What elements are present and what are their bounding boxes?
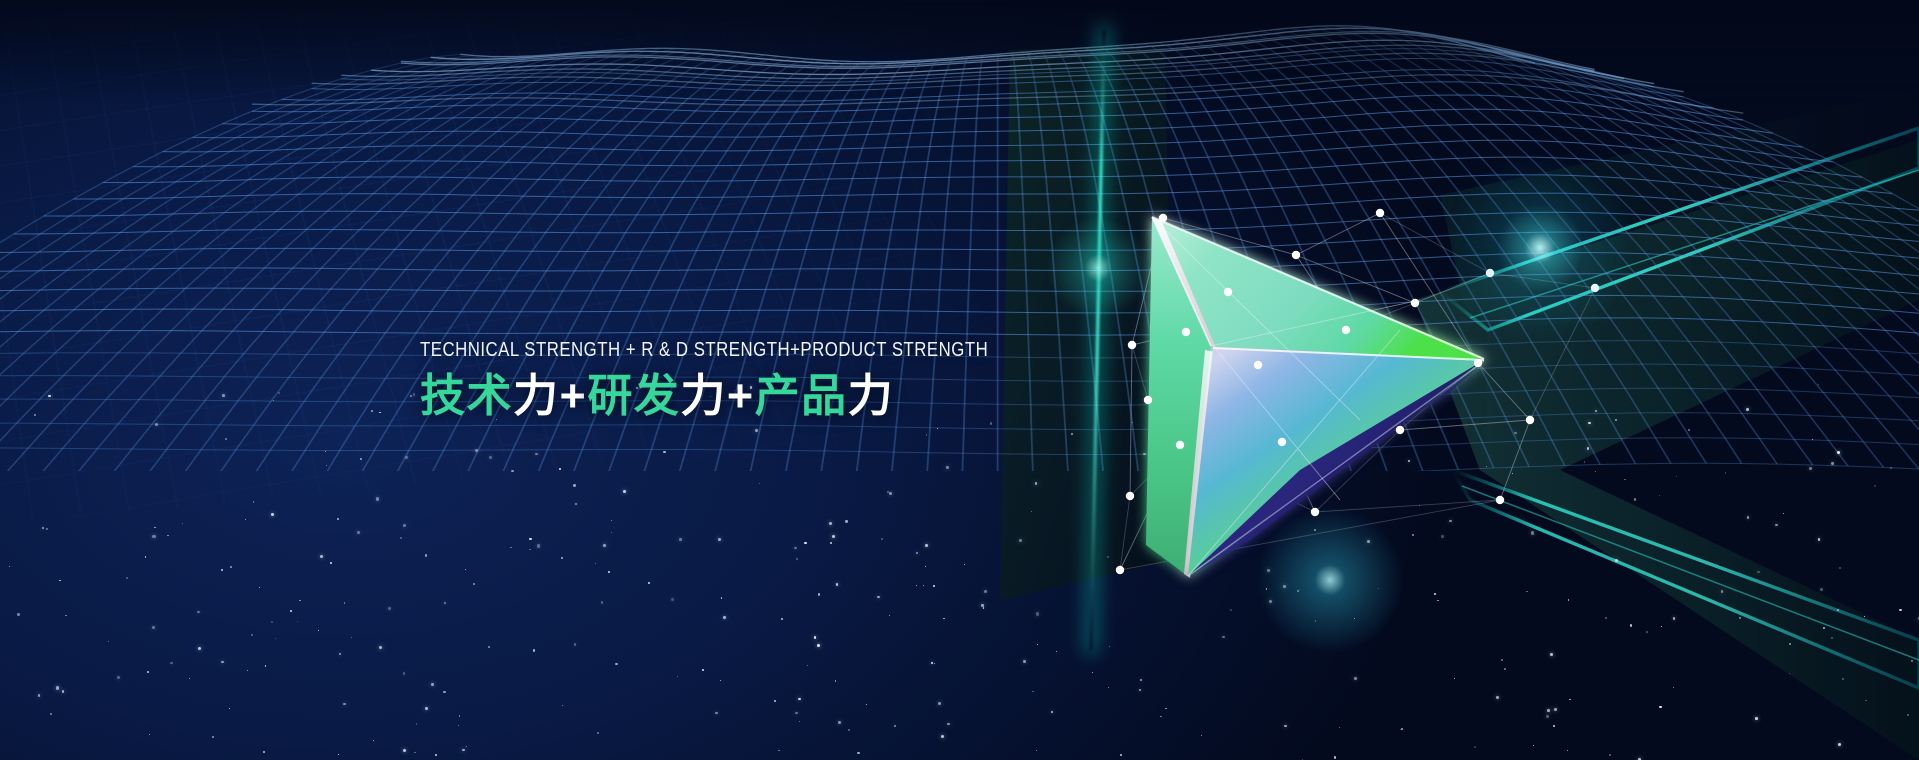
particle-dot (1676, 476, 1678, 478)
particle-dot (265, 665, 267, 667)
particle-dot (1283, 585, 1286, 588)
particle-dot (145, 556, 146, 557)
network-edge (1120, 500, 1500, 570)
particle-dot (1107, 556, 1109, 558)
terrain-rib (1535, 63, 1919, 471)
particle-dot (152, 626, 155, 629)
terrain-contour (0, 463, 1919, 471)
terrain-rib (1434, 37, 1919, 471)
terrain-contour (341, 49, 1654, 88)
particle-dot (475, 449, 478, 452)
particle-dot (1269, 600, 1272, 603)
particle-dot (182, 523, 183, 524)
particle-dot (1688, 429, 1690, 431)
particle-dot (798, 698, 801, 701)
network-edge (1380, 213, 1478, 363)
particle-dot (1292, 421, 1293, 422)
particle-dot (221, 569, 223, 571)
particle-dot (1820, 588, 1822, 590)
particle-dot (351, 637, 352, 638)
particle-dot (925, 566, 926, 567)
particle-dot (149, 734, 150, 735)
particle-dot (431, 683, 434, 686)
particle-dot (1533, 745, 1534, 746)
terrain-rib (1259, 31, 1636, 464)
terrain-rib (1361, 26, 1884, 467)
particle-dot (1837, 451, 1840, 454)
terrain-rib (1245, 33, 1600, 464)
particle-dot (1035, 482, 1037, 484)
particle-dot (925, 544, 928, 547)
terrain-rib (1201, 38, 1494, 468)
particle-dot (1474, 746, 1476, 748)
particle-dot (1553, 725, 1555, 727)
particle-dot (147, 671, 149, 673)
particle-dot (297, 621, 298, 622)
particle-dot (1721, 590, 1724, 593)
particle-dot (1630, 624, 1632, 626)
network-edge (1500, 420, 1530, 500)
particle-dot (230, 566, 232, 568)
particle-dot (245, 519, 246, 520)
network-edge (1380, 213, 1490, 273)
particle-dot (1569, 699, 1571, 701)
particle-dot (46, 528, 48, 530)
network-edge (1163, 218, 1228, 292)
terrain-rib (1419, 34, 1919, 471)
particle-dot (983, 607, 985, 609)
particle-dot (488, 646, 490, 648)
particle-dot (796, 558, 798, 560)
particle-dot (1634, 498, 1636, 500)
particle-dot (1587, 447, 1589, 449)
particle-dot (946, 466, 949, 469)
particle-dot (259, 587, 260, 588)
background-perspective-grid (0, 0, 1266, 539)
particle-dot (923, 585, 924, 586)
terrain-crest-line (431, 28, 1565, 66)
particle-dot (1143, 453, 1146, 456)
lens-flare-lower (1240, 490, 1420, 670)
particle-dot (1818, 384, 1819, 385)
particle-dot (278, 392, 280, 394)
title-segment-7: 力 (848, 370, 895, 421)
terrain-rib (0, 54, 461, 471)
particle-dot (1661, 626, 1662, 627)
particle-dot (1281, 483, 1284, 486)
terrain-rib (1448, 40, 1919, 471)
lens-flare-right (1430, 138, 1650, 358)
particle-dot (648, 582, 650, 584)
particle-dot (926, 434, 927, 435)
particle-dot (755, 429, 758, 432)
network-edge (1282, 442, 1315, 512)
particle-dot (1378, 588, 1379, 589)
terrain-contour (431, 28, 1565, 66)
particle-dot (1419, 505, 1420, 506)
particle-dot (343, 703, 346, 706)
particle-dot (299, 600, 301, 602)
terrain-contour (252, 82, 1743, 120)
particle-dot (916, 585, 917, 586)
network-edge (1296, 213, 1380, 255)
terrain-rib (1143, 44, 1352, 471)
particle-dot (459, 715, 461, 717)
network-edge (1120, 496, 1130, 570)
network-edge (1490, 273, 1595, 288)
particle-dot (466, 746, 467, 747)
particle-dot (1673, 687, 1674, 688)
particle-dot (1838, 743, 1841, 746)
terrain-rib (1129, 45, 1317, 471)
terrain-rib (1463, 44, 1919, 471)
particle-dot (1120, 754, 1122, 756)
particle-dot (413, 393, 415, 395)
title-segment-0: 技术 (420, 370, 513, 421)
particle-dot (403, 672, 406, 675)
particle-dot (1739, 617, 1741, 619)
network-edge (1415, 273, 1490, 303)
particle-dot (1546, 715, 1549, 718)
particle-dot (934, 663, 935, 664)
particle-dot (1400, 729, 1401, 730)
particle-dot (937, 428, 938, 429)
particle-dot (702, 669, 704, 671)
terrain-rib (0, 56, 475, 472)
particle-dot (1109, 646, 1110, 647)
particle-dot (938, 702, 941, 705)
particle-dot (830, 542, 832, 544)
particle-dot (615, 663, 617, 665)
terrain-rib (1172, 41, 1423, 471)
particle-dot (1412, 534, 1414, 536)
network-edge (1130, 445, 1180, 496)
network-node (1486, 269, 1494, 277)
particle-dot (1874, 485, 1876, 487)
terrain-contour (312, 59, 1684, 98)
particle-dot (1132, 422, 1133, 423)
terrain-rib (1376, 27, 1919, 469)
particle-dot (529, 549, 530, 550)
particle-dot (663, 451, 665, 453)
particle-dot (1201, 511, 1202, 512)
particle-dot (212, 736, 214, 738)
particle-dot (1659, 495, 1661, 497)
particle-dot (1609, 754, 1611, 756)
network-node (1376, 209, 1384, 217)
particle-dot (597, 732, 599, 734)
headline-block: TECHNICAL STRENGTH + R & D STRENGTH+PROD… (420, 340, 1140, 419)
particle-dot (1526, 591, 1528, 593)
particle-dot (1864, 616, 1865, 617)
particle-dot (155, 423, 158, 426)
particle-dot (1224, 507, 1227, 510)
particle-dot (1315, 620, 1317, 622)
particle-dot (778, 750, 780, 752)
particle-dot (1547, 709, 1550, 712)
particle-dot (603, 544, 606, 547)
network-edge (1186, 332, 1258, 365)
network-edge (1148, 400, 1180, 445)
particle-dot (444, 602, 446, 604)
particle-dot (1314, 529, 1316, 531)
particle-dot (1441, 535, 1444, 538)
particle-dot (1186, 533, 1187, 534)
headline-kicker: TECHNICAL STRENGTH + R & D STRENGTH+PROD… (420, 340, 1010, 361)
particle-dot (671, 598, 674, 601)
particle-dot (990, 422, 992, 424)
terrain-contour (461, 26, 1536, 63)
particle-dot (1624, 479, 1626, 481)
network-node (1474, 359, 1482, 367)
terrain-rib (1506, 56, 1919, 471)
network-edge (1120, 445, 1180, 570)
particle-dot (1842, 678, 1844, 680)
particle-dot (251, 634, 253, 636)
particle-dot (1673, 617, 1676, 620)
particle-dot (964, 564, 965, 565)
particle-dot (562, 705, 563, 706)
particle-dot (781, 618, 783, 620)
terrain-crest-line (341, 45, 1654, 84)
particle-dot (225, 438, 227, 440)
particle-dot (933, 585, 935, 587)
particle-dot (167, 535, 169, 537)
particle-dot (1031, 511, 1032, 512)
particle-dot (1584, 461, 1586, 463)
particle-dot (290, 610, 291, 611)
particle-dot (1747, 516, 1750, 519)
terrain-contour (282, 70, 1714, 108)
particle-dot (1056, 651, 1057, 652)
network-node (1159, 214, 1167, 222)
particle-dot (829, 522, 832, 525)
title-segment-4: 力 (680, 370, 727, 421)
particle-dot (1165, 708, 1166, 709)
particle-dot (126, 577, 128, 579)
particle-dot (1837, 609, 1839, 611)
particle-dot (559, 468, 561, 470)
particle-dot (1550, 653, 1553, 656)
title-segment-6: 产品 (755, 370, 848, 421)
network-node (1496, 496, 1504, 504)
terrain-rib (1230, 35, 1565, 466)
particle-dot (1354, 618, 1355, 619)
particle-dot (845, 520, 847, 522)
network-edge (1258, 365, 1282, 442)
terrain-crest-line (401, 31, 1595, 69)
terrain-rib (1492, 52, 1919, 471)
particle-dot (1831, 462, 1834, 465)
particle-dot (510, 547, 511, 548)
particle-dot (1036, 612, 1039, 615)
terrain-crest-line (312, 53, 1684, 92)
particle-dot (1159, 526, 1161, 528)
particle-dot (1334, 756, 1336, 758)
particle-dot (981, 604, 983, 606)
terrain-rib (1158, 43, 1388, 472)
particle-dot (371, 410, 373, 412)
terrain-contour (401, 33, 1595, 71)
particle-dot (535, 453, 538, 456)
network-node (1396, 426, 1404, 434)
particle-dot (1032, 691, 1034, 693)
particle-dot (462, 749, 465, 752)
network-node (1411, 299, 1419, 307)
particle-dot (1237, 473, 1239, 475)
particle-dot (1512, 473, 1513, 474)
terrain-crest-line (252, 75, 1743, 113)
network-edge (1346, 330, 1478, 363)
particle-dot (410, 395, 413, 398)
particle-dot (1775, 524, 1778, 527)
particle-dot (1354, 677, 1357, 680)
particle-dot (253, 501, 254, 502)
particle-dot (848, 729, 850, 731)
particle-dot (1725, 472, 1727, 474)
network-edge (1530, 288, 1595, 420)
particle-dot (611, 520, 612, 521)
particle-dot (1023, 660, 1026, 663)
particle-dot (835, 680, 837, 682)
terrain-rib (1332, 26, 1813, 465)
title-segment-2: + (560, 370, 588, 421)
terrain-rib (1317, 26, 1777, 464)
particle-dot (388, 607, 391, 610)
particle-dot (794, 547, 797, 550)
network-edge (1163, 218, 1296, 255)
network-node (1292, 251, 1300, 259)
particle-dot (889, 492, 892, 495)
particle-dot (1646, 631, 1648, 633)
particle-dot (339, 653, 342, 656)
particle-dot (1139, 689, 1142, 692)
particle-dot (1454, 678, 1455, 679)
particle-dot (1568, 599, 1569, 600)
particle-dot (759, 483, 760, 484)
particle-dot (1437, 600, 1438, 601)
particle-dot (198, 647, 201, 650)
network-edge (1315, 430, 1400, 512)
terrain-contour (371, 40, 1624, 78)
particle-dot (318, 630, 319, 631)
particle-dot (1299, 589, 1300, 590)
network-edge (1296, 255, 1346, 330)
particle-dot (1408, 460, 1411, 463)
particle-dot (1222, 636, 1225, 639)
particle-dot (1108, 687, 1109, 688)
terrain-contour (222, 95, 1773, 133)
particle-dot (889, 615, 890, 616)
terrain-contour (0, 438, 1919, 460)
particle-dot (65, 615, 67, 617)
particle-dot (611, 532, 612, 533)
particle-dot (1809, 467, 1812, 470)
network-node (1311, 508, 1319, 516)
particle-dot (887, 491, 889, 493)
particle-dot (338, 754, 339, 755)
particle-dot (1071, 433, 1073, 435)
particle-dot (435, 754, 437, 756)
particle-dot (1267, 569, 1270, 572)
particle-dot (1789, 673, 1791, 675)
particle-dot (1911, 660, 1913, 662)
terrain-contour (14, 212, 1919, 246)
particle-dot (866, 704, 867, 705)
particle-dot (34, 414, 36, 416)
terrain-rib (1187, 40, 1459, 470)
particle-dot (595, 563, 596, 564)
particle-dot (807, 665, 808, 666)
particle-dot (117, 676, 120, 679)
particle-dot (414, 752, 416, 754)
particle-dot (533, 649, 535, 651)
particle-dot (881, 538, 882, 539)
particle-dot (197, 611, 200, 614)
terrain-contour (74, 175, 1919, 211)
particle-dot (601, 601, 604, 604)
network-edge (1400, 420, 1530, 430)
particle-dot (373, 740, 374, 741)
particle-dot (458, 725, 459, 726)
particle-dot (465, 569, 466, 570)
particle-dot (1332, 397, 1334, 399)
terrain-rib (1303, 27, 1742, 463)
particle-dot (1831, 637, 1833, 639)
particle-dot (677, 676, 678, 677)
particle-dot (1789, 643, 1791, 645)
network-edge (1163, 218, 1186, 332)
particle-dot (416, 723, 417, 724)
particle-dot (832, 535, 835, 538)
particle-dot (425, 554, 427, 556)
particle-dot (1588, 422, 1591, 425)
particle-dot (337, 518, 339, 520)
particle-dot (1449, 520, 1451, 522)
particle-dot (1865, 700, 1866, 701)
particle-dot (1567, 750, 1569, 752)
particle-dot (56, 686, 59, 689)
particle-dot (189, 678, 190, 679)
network-edge (1228, 292, 1346, 330)
particle-dot (1201, 735, 1203, 737)
particle-dot (344, 602, 345, 603)
network-edge (1148, 365, 1258, 400)
particle-dot (360, 458, 362, 460)
particle-dot (1531, 531, 1534, 534)
terrain-rib (0, 56, 490, 471)
particle-dot (1019, 539, 1022, 542)
network-edge (1132, 218, 1163, 345)
particle-dot (443, 691, 445, 693)
particle-dot (1595, 410, 1598, 413)
title-segment-5: + (727, 370, 755, 421)
title-segment-3: 研发 (587, 370, 680, 421)
particle-dot (1757, 571, 1760, 574)
network-node (1526, 416, 1534, 424)
particle-dot (1284, 725, 1287, 728)
particle-dot (723, 616, 726, 619)
particle-dot (947, 723, 950, 726)
particle-dot (357, 531, 360, 534)
particle-dot (804, 542, 806, 544)
particle-dot (916, 552, 919, 555)
particle-dot (247, 670, 248, 671)
particle-dot (17, 613, 19, 615)
particle-dot (263, 751, 265, 753)
particle-dot (1615, 559, 1618, 562)
particle-dot (715, 712, 718, 715)
